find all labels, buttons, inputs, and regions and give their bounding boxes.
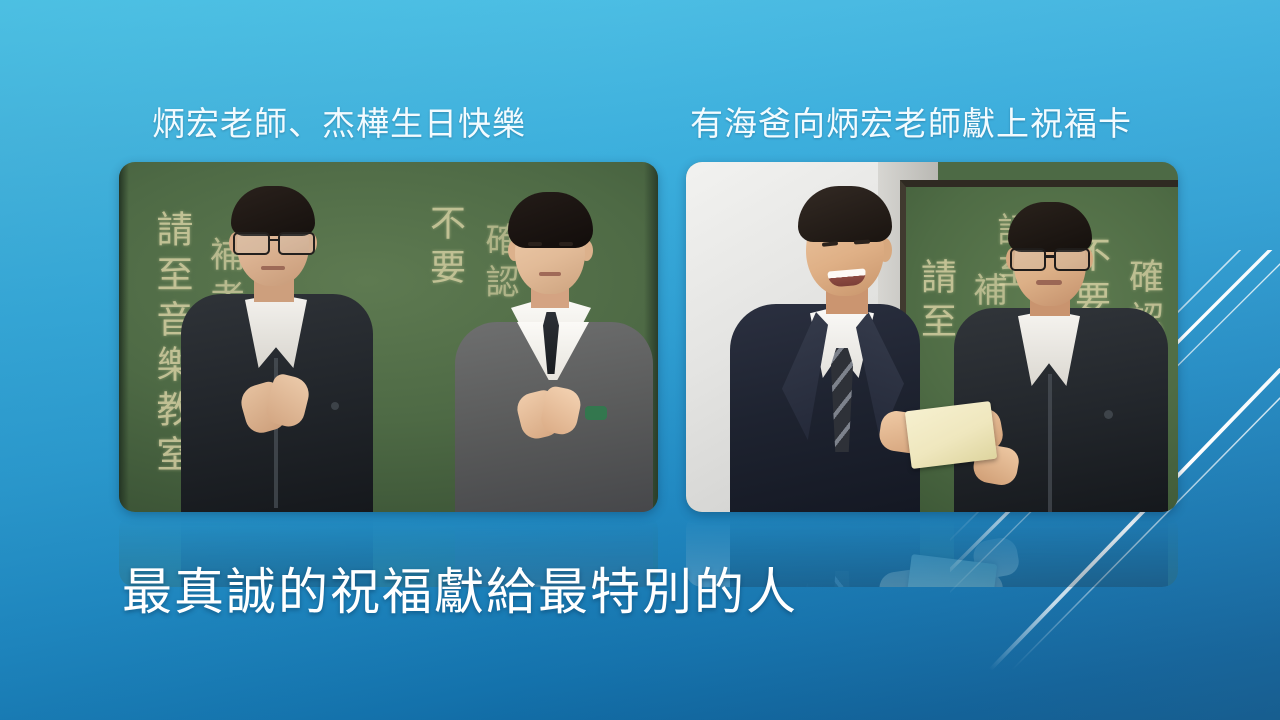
chalkboard-edge-left <box>119 162 129 512</box>
glasses-lens-left <box>233 232 270 255</box>
caption-left-photo: 炳宏老師、杰樺生日快樂 <box>152 97 526 145</box>
photo-right[interactable]: 請至 請至 補考 者 不要 確認 <box>686 162 1178 512</box>
caption-right-photo: 有海爸向炳宏老師獻上祝福卡 <box>690 97 1132 145</box>
greeting-card <box>905 401 997 469</box>
glasses-lens-right <box>278 232 315 255</box>
photo-left[interactable]: 請至音樂教室 補考 未考者 不要 確認 <box>119 162 658 512</box>
person-student-mouth <box>539 272 561 276</box>
classroom-scene-right: 請至 請至 補考 者 不要 確認 <box>686 162 1178 512</box>
person-teacher2-mouth <box>1036 280 1062 285</box>
chalk-text: 不要 <box>419 204 471 292</box>
person-teacher-hair <box>231 186 315 236</box>
presentation-slide: 炳宏老師、杰樺生日快樂 有海爸向炳宏老師獻上祝福卡 請至音樂教室 補考 未考者 … <box>0 0 1280 720</box>
classroom-scene-left: 請至音樂教室 補考 未考者 不要 確認 <box>119 162 658 512</box>
person-teacher2-zipper <box>1048 374 1052 512</box>
person-student-eye-left <box>528 242 542 246</box>
person-teacher2-button <box>1104 410 1113 419</box>
person-teacher-button <box>331 402 339 410</box>
caption-bottom: 最真誠的祝福獻給最特別的人 <box>122 552 798 624</box>
photo-right-frame: 請至 請至 補考 者 不要 確認 <box>686 162 1178 512</box>
person-teacher2-glasses <box>1010 248 1090 268</box>
photo-left-frame: 請至音樂教室 補考 未考者 不要 確認 <box>119 162 658 512</box>
glasses-lens-right <box>1054 248 1090 271</box>
glasses-lens-left <box>1010 248 1046 271</box>
person-teacher-glasses <box>233 232 315 252</box>
person-student-hair <box>508 192 593 248</box>
person-student-school-badge <box>585 406 607 420</box>
person-student-eye-right <box>559 242 573 246</box>
person-teacher-mouth <box>261 266 285 270</box>
